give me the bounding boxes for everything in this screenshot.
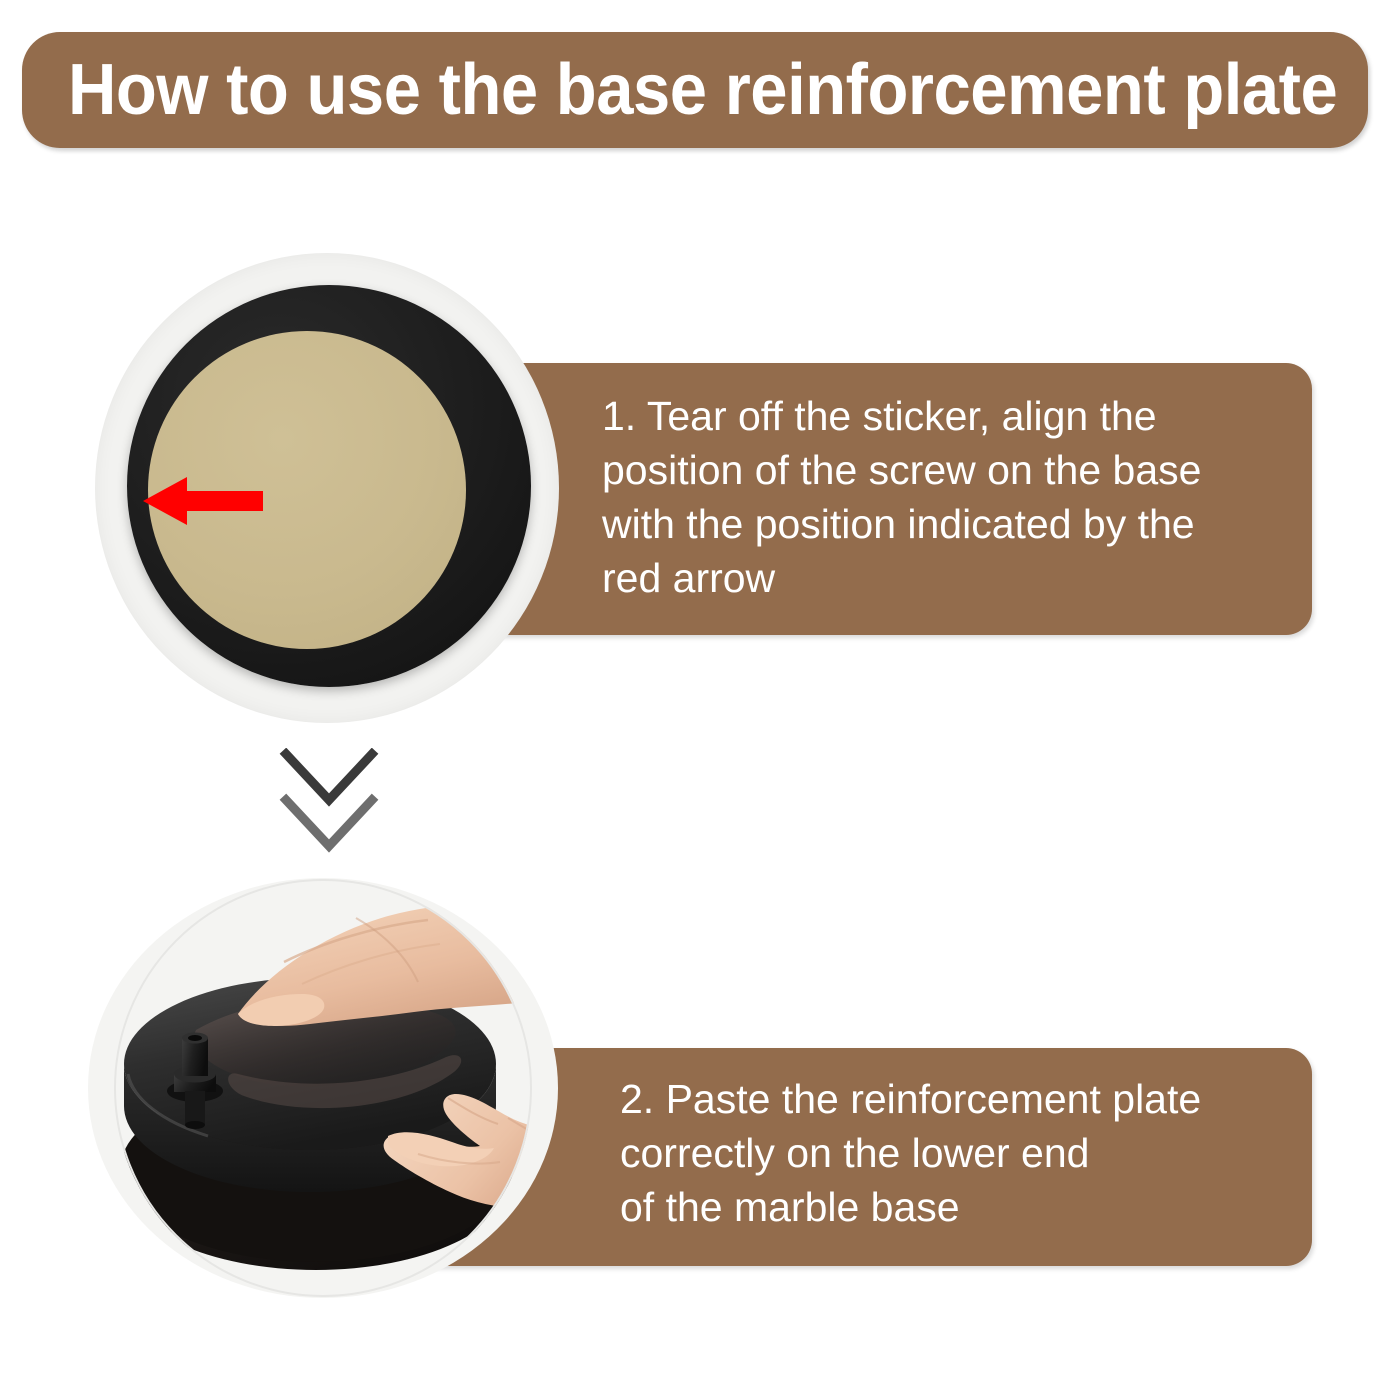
chevron-down-top	[286, 754, 372, 800]
step-1-instruction: 1. Tear off the sticker, align the posit…	[602, 389, 1292, 605]
chevron-down-bottom	[286, 800, 372, 846]
marble-base-illustration	[88, 878, 558, 1298]
page-title: How to use the base reinforcement plate	[68, 54, 1337, 126]
step-1-photo	[95, 253, 559, 723]
red-arrow-icon	[143, 475, 263, 527]
step-2-instruction: 2. Paste the reinforcement plate correct…	[620, 1072, 1300, 1234]
title-banner: How to use the base reinforcement plate	[22, 32, 1368, 148]
hand-upper	[238, 904, 558, 1026]
chevron-down-icon	[264, 748, 394, 858]
step-2-photo	[88, 878, 558, 1298]
